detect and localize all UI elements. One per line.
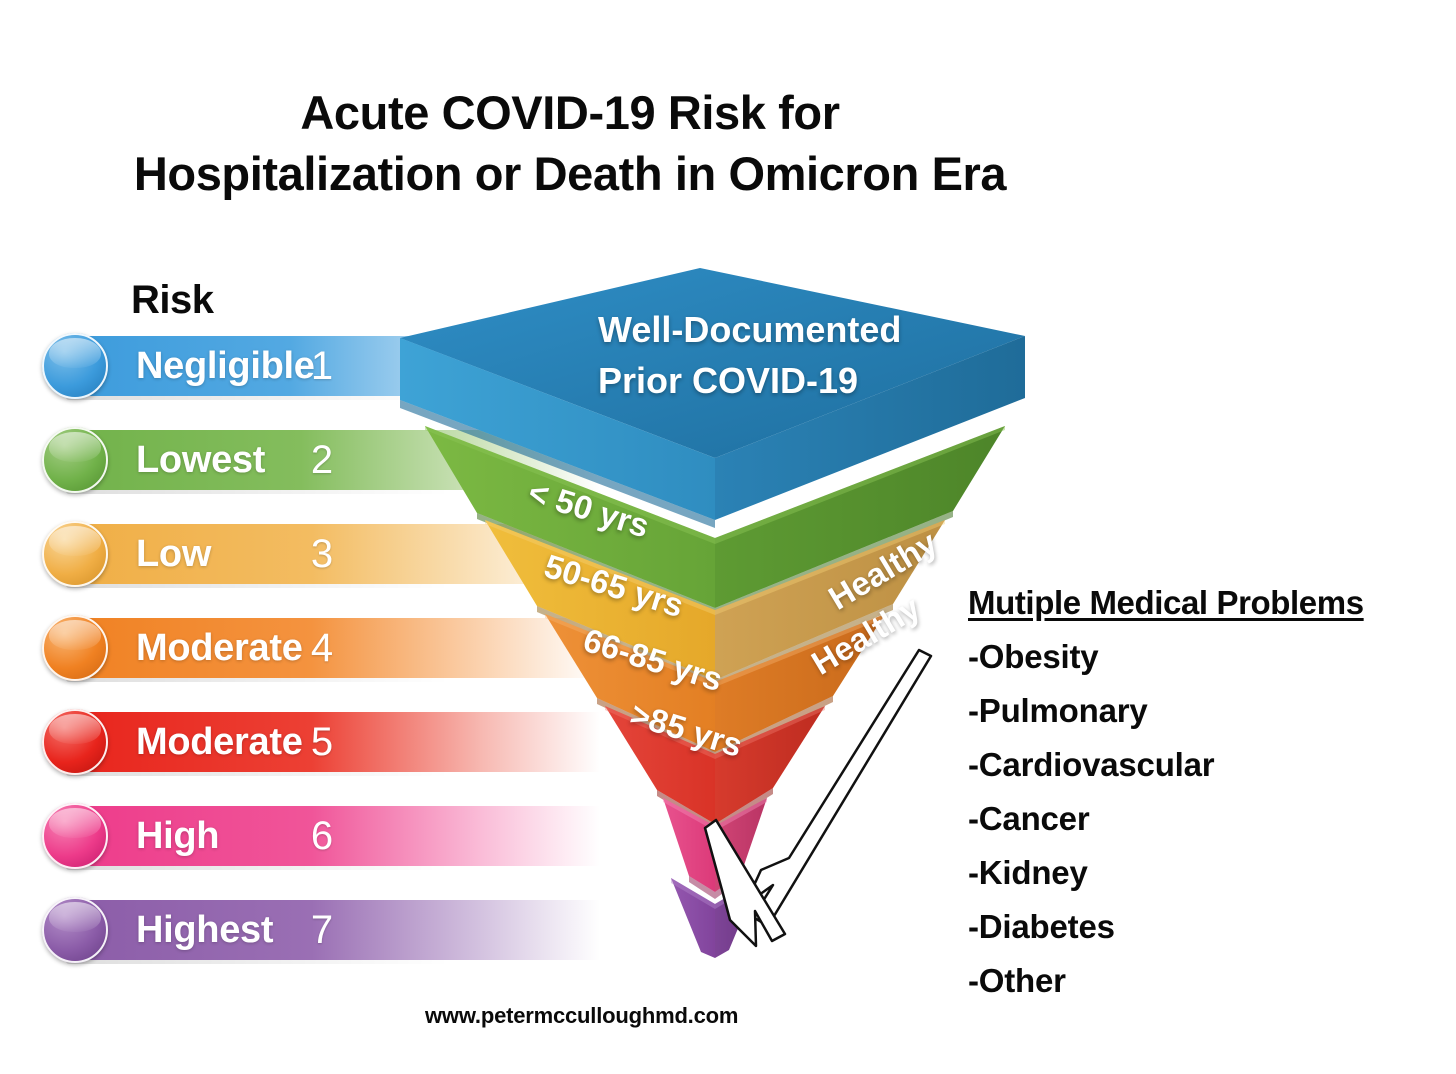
page-title: Acute COVID-19 Risk for Hospitalization … [0, 82, 1140, 204]
legend-item-5: 5 Moderate [42, 709, 602, 775]
medical-problem-item: -Diabetes [968, 908, 1456, 946]
legend-label-3: Low [136, 521, 211, 587]
page-title-line-2: Hospitalization or Death in Omicron Era [0, 143, 1140, 204]
page-title-line-1: Acute COVID-19 Risk for [0, 82, 1140, 143]
legend-item-6: 6 High [42, 803, 602, 869]
legend-label-1: Negligible [136, 333, 315, 399]
risk-legend-heading: Risk [131, 278, 214, 323]
legend-label-6: High [136, 803, 219, 869]
medical-problem-item: -Obesity [968, 638, 1456, 676]
medical-problems-panel: Mutiple Medical Problems -Obesity -Pulmo… [968, 584, 1456, 1000]
legend-number-4: 4 [42, 615, 602, 681]
legend-number-1: 1 [42, 333, 602, 399]
medical-problem-item: -Cardiovascular [968, 746, 1456, 784]
medical-problem-item: -Pulmonary [968, 692, 1456, 730]
legend-label-5: Moderate [136, 709, 303, 775]
legend-number-7: 7 [42, 897, 602, 963]
legend-label-2: Lowest [136, 427, 265, 493]
legend-label-4: Moderate [136, 615, 303, 681]
legend-number-2: 2 [42, 427, 602, 493]
legend-number-5: 5 [42, 709, 602, 775]
legend-item-2: 2 Lowest [42, 427, 602, 493]
medical-problems-heading: Mutiple Medical Problems [968, 584, 1456, 622]
legend-item-4: 4 Moderate [42, 615, 602, 681]
medical-problem-item: -Other [968, 962, 1456, 1000]
medical-problem-item: -Cancer [968, 800, 1456, 838]
legend-number-3: 3 [42, 521, 602, 587]
legend-item-7: 7 Highest [42, 897, 602, 963]
legend-item-3: 3 Low [42, 521, 602, 587]
legend-number-6: 6 [42, 803, 602, 869]
medical-problem-item: -Kidney [968, 854, 1456, 892]
footer-website-url: www.petermcculloughmd.com [425, 1003, 738, 1029]
legend-label-7: Highest [136, 897, 273, 963]
legend-item-1: 1 Negligible [42, 333, 602, 399]
